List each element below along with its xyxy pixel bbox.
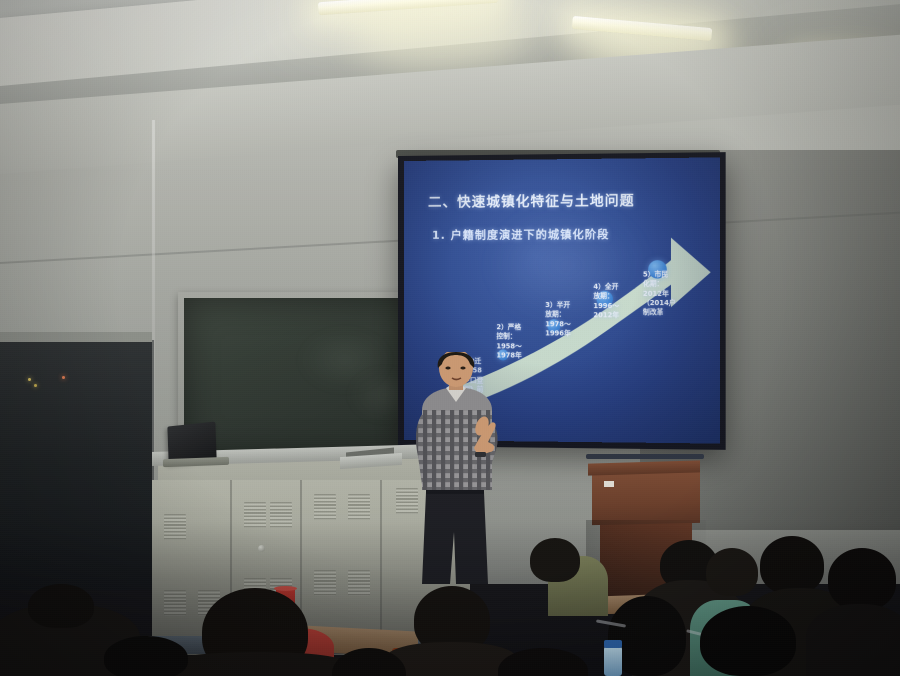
audience-head bbox=[104, 636, 188, 676]
lecture-hall-photo: 二、快速城镇化特征与土地问题 1. 户籍制度演进下的城镇化阶段 1）自由迁 移：… bbox=[0, 0, 900, 676]
lectern-body bbox=[592, 471, 700, 525]
audience-head bbox=[700, 606, 796, 676]
audience-body bbox=[170, 652, 346, 676]
audience-head bbox=[706, 548, 758, 596]
audience-head bbox=[530, 538, 580, 582]
lectern-rail bbox=[586, 454, 704, 459]
audience-head bbox=[760, 536, 824, 594]
bottle-cap bbox=[604, 640, 622, 648]
audience-head bbox=[828, 548, 896, 610]
audience-body bbox=[806, 604, 900, 676]
lectern-badge bbox=[604, 481, 614, 487]
audience-head bbox=[28, 584, 94, 628]
water-bottle bbox=[604, 646, 622, 676]
window-sill bbox=[0, 332, 152, 342]
